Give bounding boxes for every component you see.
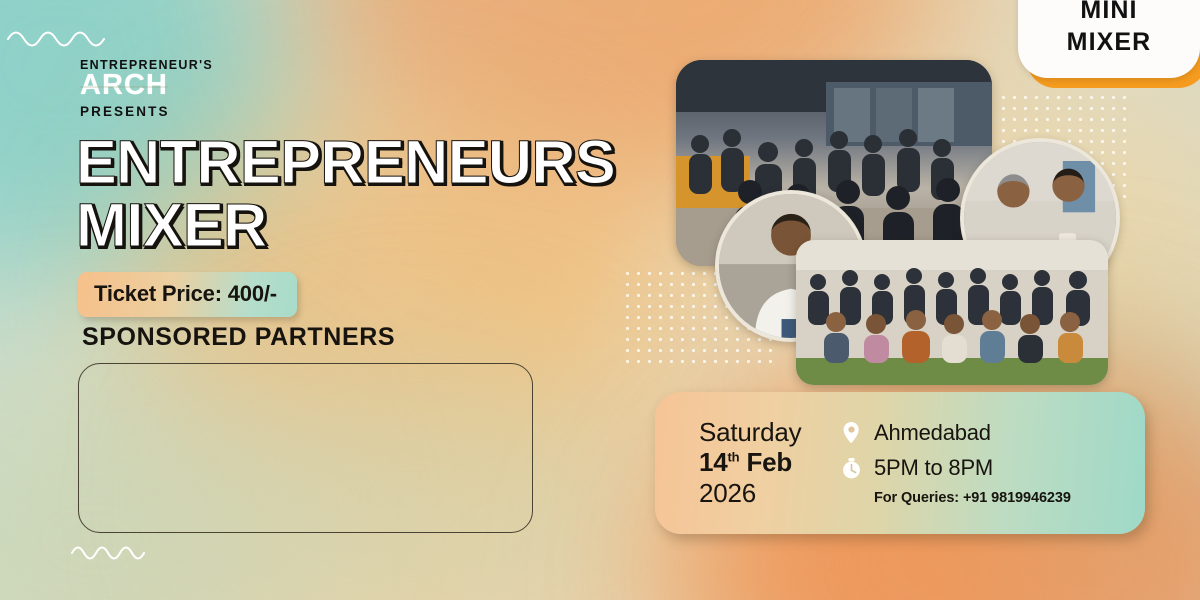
sponsors-logo-placeholder-box [78, 363, 533, 533]
wave-decoration-bottomleft [70, 541, 150, 565]
event-date-month: Feb [746, 447, 792, 477]
event-poster: ENTREPRENEUR'S ARCH PRESENTS ENTREPRENEU… [0, 0, 1200, 600]
event-meta-block: Ahmedabad 5PM to 8PM For Queries: +91 98… [841, 420, 1145, 506]
event-time: 5PM to 8PM [874, 455, 993, 481]
logo-brand-name: ARCH [80, 71, 168, 101]
event-date: 14th Feb [699, 448, 841, 477]
event-location-row: Ahmedabad [841, 420, 1125, 446]
logo-presents-text: PRESENTS [80, 104, 213, 119]
event-queries-contact: For Queries: +91 9819946239 [841, 490, 1125, 506]
clock-icon [841, 456, 861, 480]
page-title: ENTREPRENEURS MIXER [76, 136, 615, 252]
event-location: Ahmedabad [874, 420, 991, 446]
headline-line-2: MIXER [76, 199, 615, 253]
event-date-suffix: th [728, 450, 740, 465]
mini-mixer-line-2: MIXER [1067, 30, 1152, 55]
mini-mixer-line-1: MINI [1080, 0, 1137, 23]
event-day: Saturday [699, 418, 841, 447]
event-time-row: 5PM to 8PM [841, 455, 1125, 481]
event-year: 2026 [699, 479, 841, 508]
brand-logo: ENTREPRENEUR'S ARCH PRESENTS [80, 58, 213, 119]
mini-mixer-badge: MINI MIXER [1018, 0, 1200, 78]
map-pin-icon [841, 421, 861, 445]
photo-collage [660, 50, 1160, 405]
ticket-price-badge: Ticket Price: 400/- [78, 272, 297, 317]
mini-mixer-badge-body: MINI MIXER [1018, 0, 1200, 78]
wave-decoration-topleft [6, 26, 118, 52]
event-details-card: Saturday 14th Feb 2026 Ahmedabad [655, 392, 1145, 534]
event-date-block: Saturday 14th Feb 2026 [655, 418, 841, 507]
photo-group-outdoor [796, 240, 1108, 385]
headline-line-1: ENTREPRENEURS [76, 136, 615, 190]
event-date-number: 14 [699, 447, 728, 477]
sponsors-heading: SPONSORED PARTNERS [82, 323, 395, 352]
